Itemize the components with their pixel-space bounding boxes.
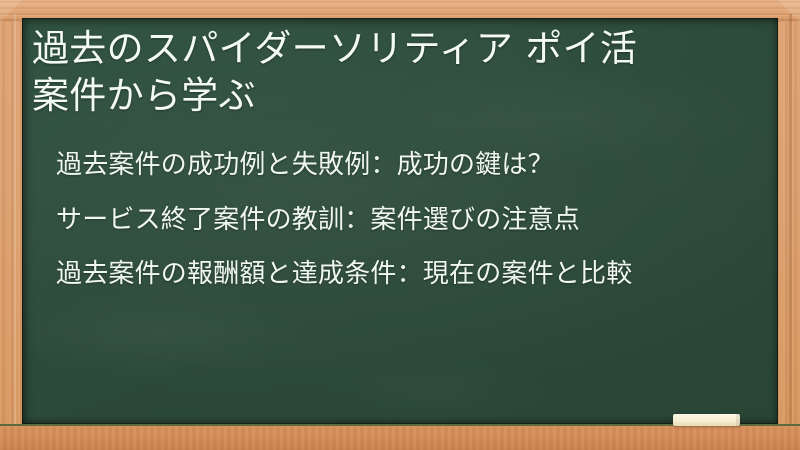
list-item: サービス終了案件の教訓：案件選びの注意点 — [56, 205, 762, 236]
frame-left-bevel — [14, 14, 16, 424]
frame-right-bevel — [789, 14, 792, 426]
list-item: 過去案件の報酬額と達成条件：現在の案件と比較 — [56, 259, 762, 290]
frame-bottom-ledge — [0, 424, 800, 450]
list-item: 過去案件の成功例と失敗例：成功の鍵は？ — [56, 150, 762, 181]
chalk-stick-icon — [673, 414, 740, 426]
chalk-tip — [736, 414, 740, 426]
topic-list: 過去案件の成功例と失敗例：成功の鍵は？ サービス終了案件の教訓：案件選びの注意点… — [56, 150, 762, 290]
slide-stage: 過去のスパイダーソリティア ポイ活 案件から学ぶ 過去案件の成功例と失敗例：成功… — [0, 0, 800, 450]
page-title: 過去のスパイダーソリティア ポイ活 案件から学ぶ — [32, 26, 752, 119]
chalkboard-surface: 過去のスパイダーソリティア ポイ活 案件から学ぶ 過去案件の成功例と失敗例：成功… — [22, 18, 778, 424]
